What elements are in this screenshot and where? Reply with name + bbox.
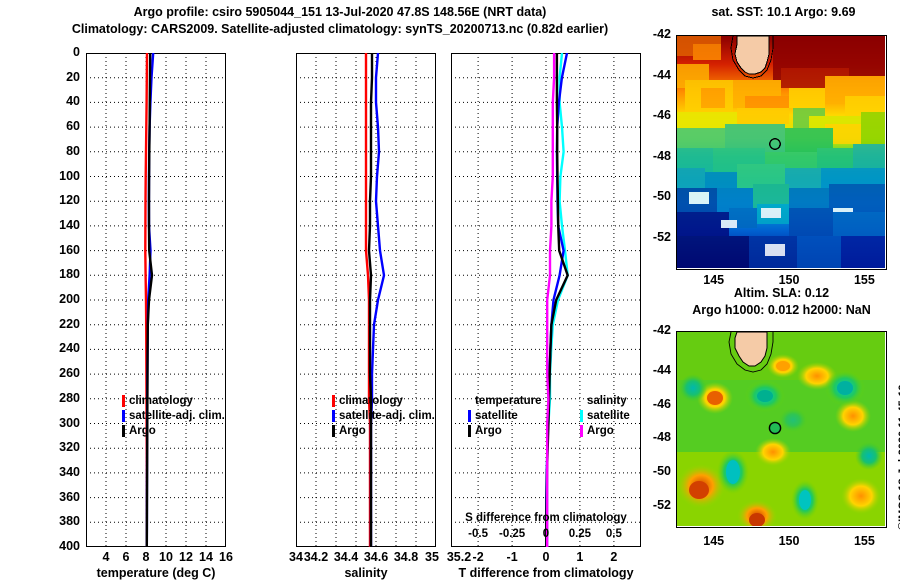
sst-map-title: sat. SST: 10.1 Argo: 9.69: [676, 5, 891, 19]
legend-label: temperature: [475, 395, 541, 407]
legend-label: satellite: [587, 410, 630, 422]
legend-item-climatology: climatology: [122, 393, 225, 408]
legend-title-salinity: salinity: [580, 393, 630, 408]
legend-item-salinity-argo: Argo: [580, 423, 630, 438]
sst-map-svg: [677, 36, 885, 268]
legend-item-satellite-adj: satellite-adj. clim.: [332, 408, 435, 423]
salinity-svg: [296, 53, 436, 547]
spacer-swatch: [468, 395, 471, 407]
page-title-line1: Argo profile: csiro 5905044_151 13-Jul-2…: [30, 5, 650, 19]
legend-item-argo: Argo: [122, 423, 225, 438]
grid-lines: [86, 53, 226, 547]
temperature-legend: climatology satellite-adj. clim. Argo: [122, 393, 225, 438]
legend-label: Argo: [475, 425, 502, 437]
temperature-satellite-color-swatch: [468, 410, 471, 422]
sla-map-frame: [676, 331, 887, 528]
satellite-adj-color-swatch: [122, 410, 125, 422]
legend-label: climatology: [339, 395, 403, 407]
salinity-legend: climatology satellite-adj. clim. Argo: [332, 393, 435, 438]
legend-item-satellite-adj: satellite-adj. clim.: [122, 408, 225, 423]
legend-label: satellite-adj. clim.: [339, 410, 435, 422]
legend-label: Argo: [587, 425, 614, 437]
salinity-satellite-color-swatch: [580, 410, 583, 422]
sla-map-title1: Altim. SLA: 0.12: [676, 286, 887, 300]
salinity-plot: [296, 53, 436, 547]
difference-temperature-argo-line: [546, 53, 567, 547]
legend-label: satellite-adj. clim.: [129, 410, 225, 422]
legend-label: climatology: [129, 395, 193, 407]
legend-item-climatology: climatology: [332, 393, 435, 408]
legend-item-salinity-satellite: satellite: [580, 408, 630, 423]
difference-plot: [451, 53, 641, 547]
page-title-line2: Climatology: CARS2009. Satellite-adjuste…: [20, 22, 660, 36]
legend-label: Argo: [129, 425, 156, 437]
legend-title-temperature: temperature: [468, 393, 541, 408]
spacer-swatch: [580, 395, 583, 407]
temperature-svg: [86, 53, 226, 547]
difference-t-axis-label: T difference from climatology: [441, 566, 651, 580]
legend-label: Argo: [339, 425, 366, 437]
argo-float-marker: [769, 422, 780, 433]
difference-svg: [451, 53, 641, 547]
legend-item-argo: Argo: [332, 423, 435, 438]
legend-item-temperature-argo: Argo: [468, 423, 541, 438]
sla-map-y-ticks: -42 -44 -46 -48 -50 -52: [640, 331, 674, 528]
difference-legend-salinity: salinity satellite Argo: [580, 393, 630, 438]
salinity-argo-color-swatch: [580, 425, 583, 437]
sst-map-y-ticks: -42 -44 -46 -48 -50 -52: [640, 35, 674, 270]
sla-map-title2: Argo h1000: 0.012 h2000: NaN: [664, 303, 899, 317]
argo-color-swatch: [122, 425, 125, 437]
difference-s-axis-label: S difference from climatology: [451, 512, 641, 524]
legend-item-temperature-satellite: satellite: [468, 408, 541, 423]
argo-color-swatch: [332, 425, 335, 437]
climatology-color-swatch: [332, 395, 335, 407]
sst-map-frame: [676, 35, 887, 270]
temperature-argo-color-swatch: [468, 425, 471, 437]
legend-label: salinity: [587, 395, 627, 407]
temperature-x-axis-label: temperature (deg C): [66, 566, 246, 580]
sla-map-svg: [677, 332, 885, 526]
temperature-plot: [86, 53, 226, 547]
satellite-adj-color-swatch: [332, 410, 335, 422]
climatology-color-swatch: [122, 395, 125, 407]
difference-legend-temperature: temperature satellite Argo: [468, 393, 541, 438]
salinity-x-axis-label: salinity: [276, 566, 456, 580]
legend-label: satellite: [475, 410, 518, 422]
temperature-y-ticks: 0 20 40 60 80 100 120 140 160 180 200 22…: [40, 53, 84, 547]
